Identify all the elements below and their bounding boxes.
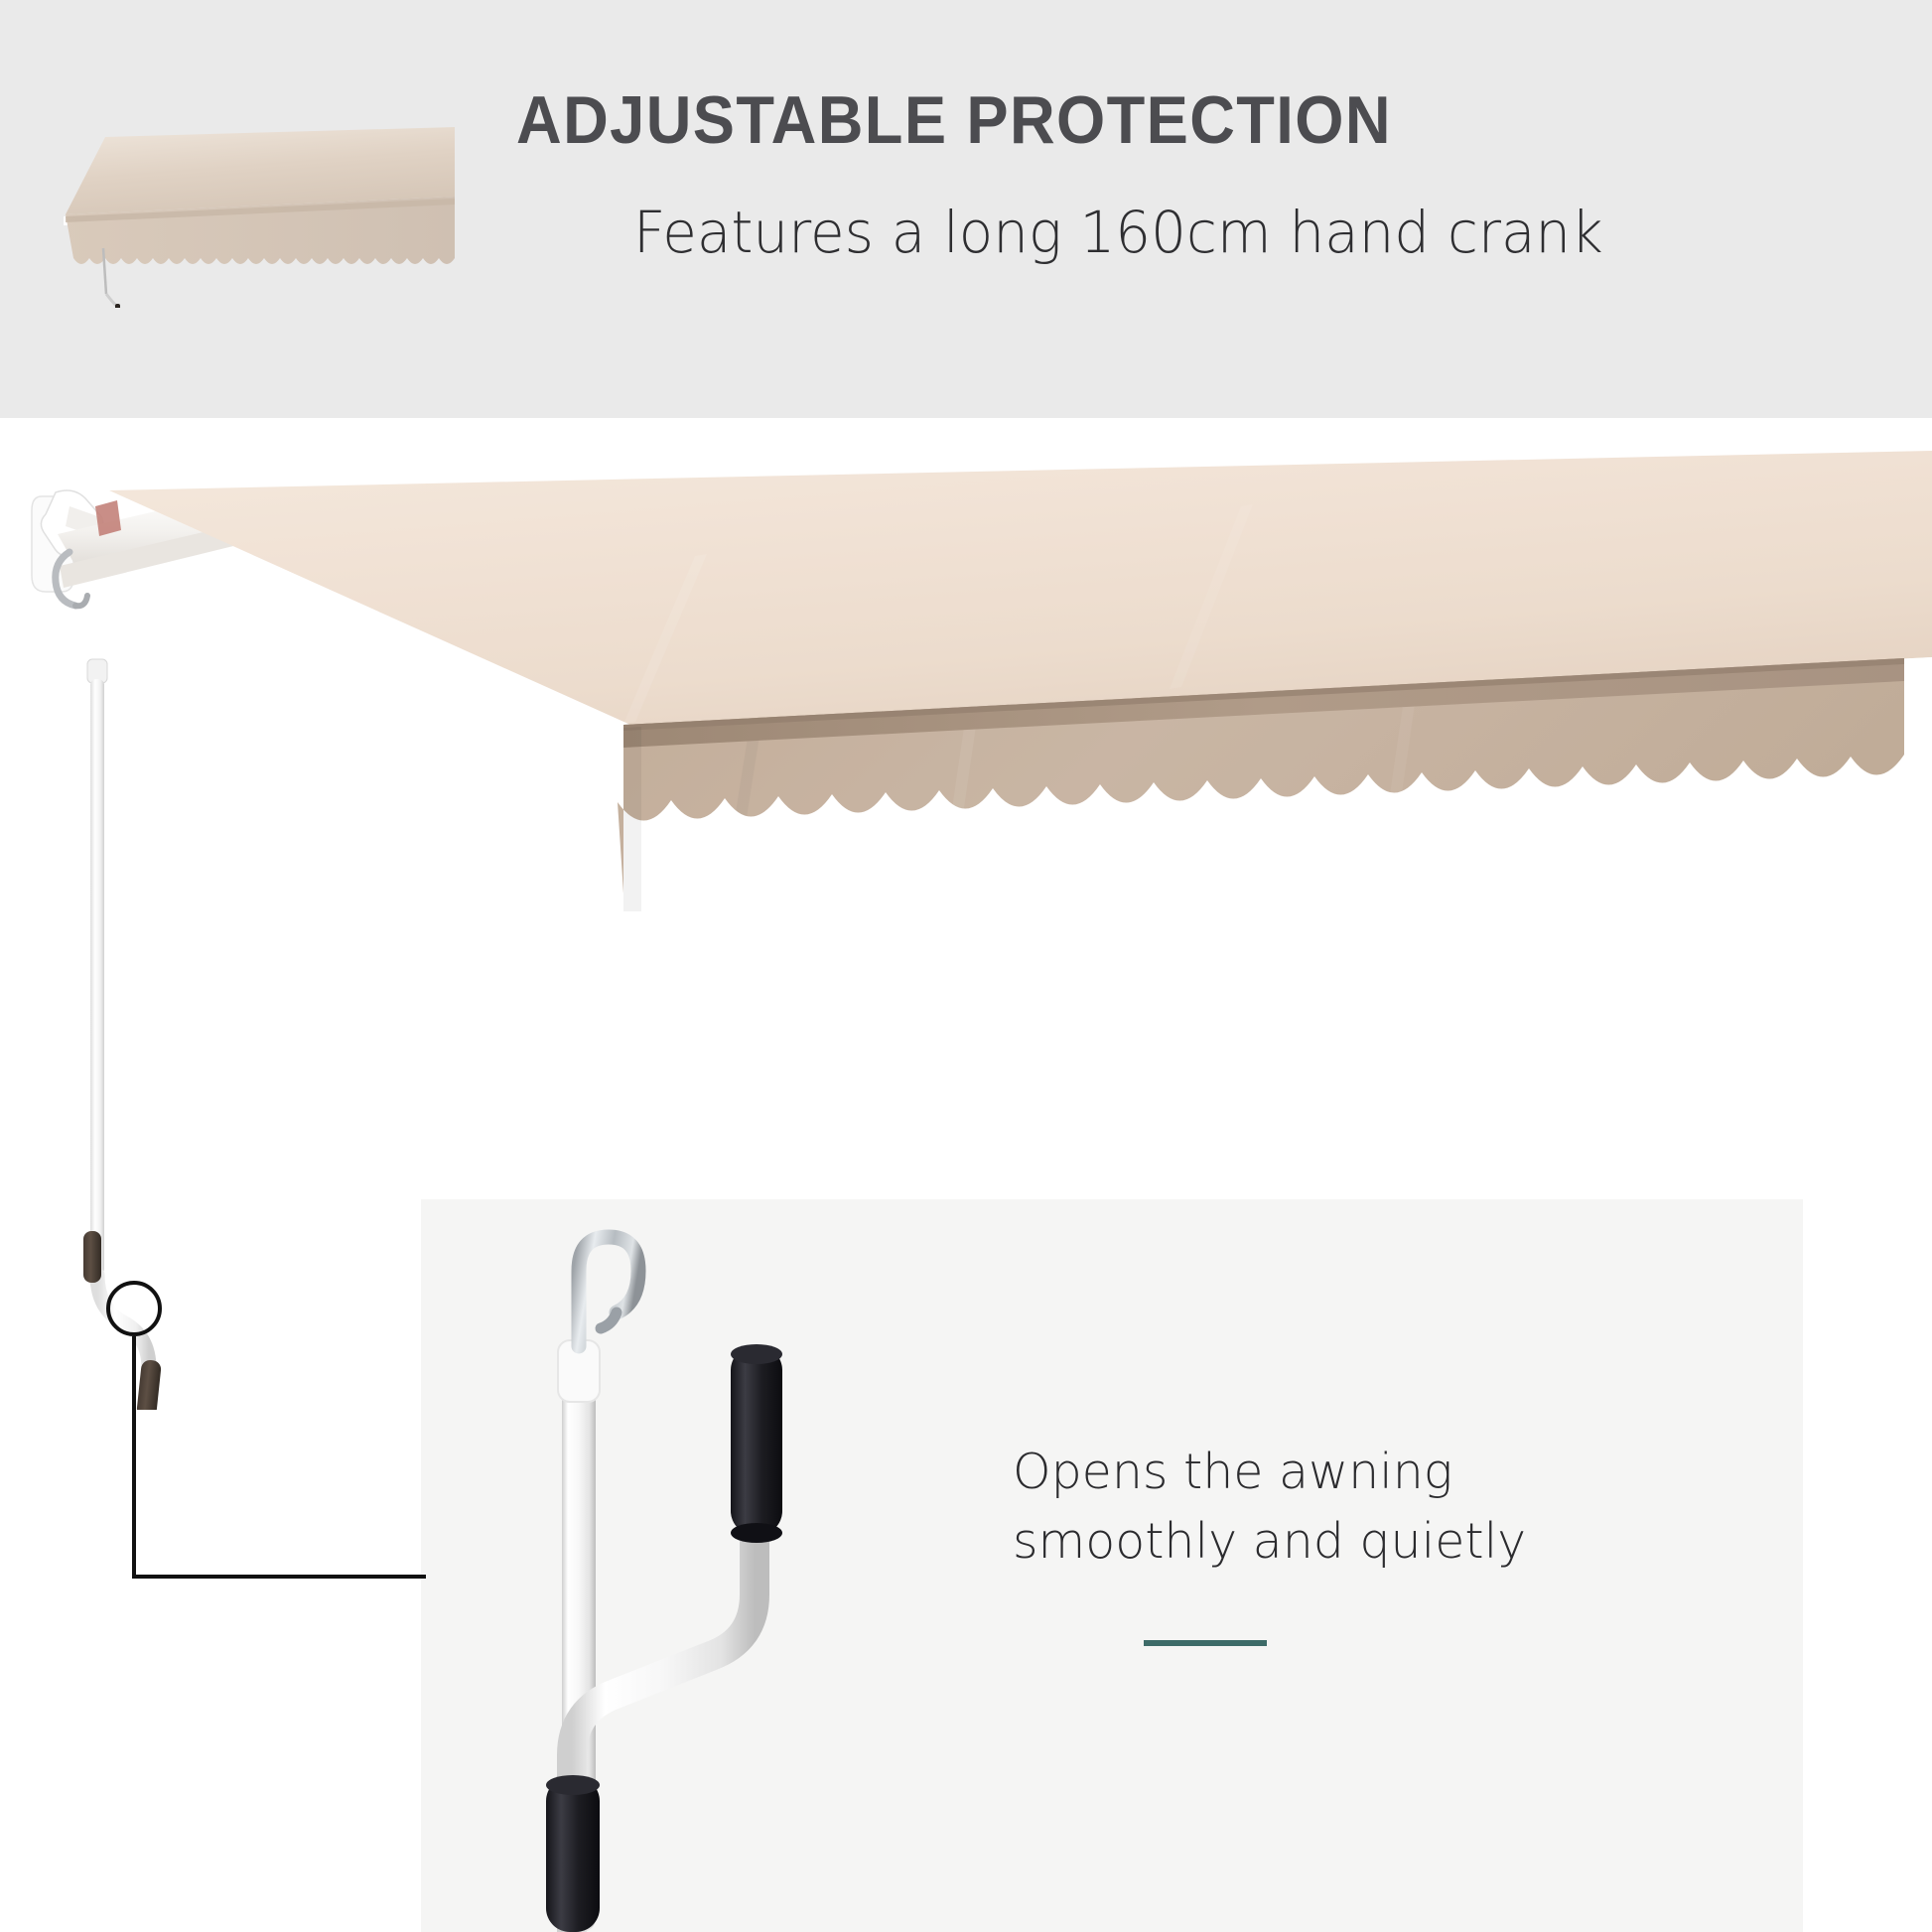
page-subtitle: Features a long 160cm hand crank	[633, 199, 1885, 266]
awning-hero-image	[0, 427, 1932, 1191]
detail-caption-line1: Opens the awning	[1013, 1438, 1628, 1507]
awning-thumbnail-image	[58, 119, 455, 308]
crank-rod-svg	[40, 635, 278, 1410]
awning-crank-rod	[40, 635, 278, 1410]
awning-hero-svg	[0, 427, 1932, 1191]
header-band: ADJUSTABLE PROTECTION Features a long 16…	[0, 0, 1932, 418]
page-title: ADJUSTABLE PROTECTION	[516, 81, 1809, 159]
hook-icon	[579, 1237, 638, 1346]
callout-leader-horizontal	[132, 1575, 426, 1579]
detail-caption: Opens the awning smoothly and quietly	[1013, 1438, 1628, 1576]
crank-grip-lower	[546, 1777, 600, 1932]
accent-underline	[1144, 1640, 1267, 1646]
awning-thumbnail-svg	[58, 119, 455, 308]
detail-caption-line2: smoothly and quietly	[1013, 1507, 1628, 1577]
callout-leader-vertical	[132, 1336, 136, 1579]
crank-grip-upper	[731, 1346, 782, 1535]
callout-marker-circle	[106, 1281, 162, 1336]
product-infographic: ADJUSTABLE PROTECTION Features a long 16…	[0, 0, 1932, 1932]
